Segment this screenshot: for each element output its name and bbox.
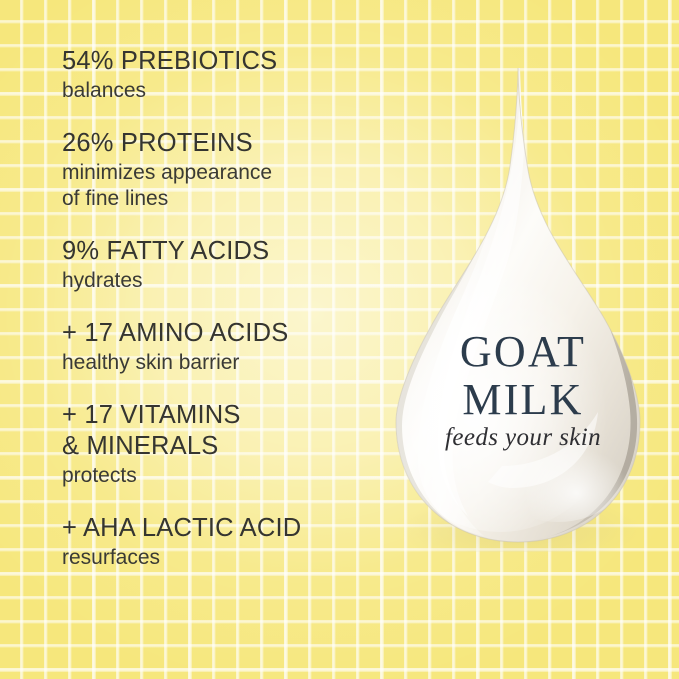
ingredient-benefit: protects <box>62 463 382 489</box>
ingredient-list: 54% PREBIOTICS balances 26% PROTEINS min… <box>62 46 382 571</box>
list-item: 54% PREBIOTICS balances <box>62 46 382 104</box>
ingredient-benefit: hydrates <box>62 268 382 294</box>
ingredient-headline: + 17 AMINO ACIDS <box>62 318 382 349</box>
ingredient-benefit: minimizes appearance of fine lines <box>62 160 382 212</box>
milk-droplet-icon <box>392 60 654 552</box>
ingredient-headline: 54% PREBIOTICS <box>62 46 382 77</box>
ingredient-benefit: balances <box>62 78 382 104</box>
ingredient-headline: 9% FATTY ACIDS <box>62 236 382 267</box>
list-item: + 17 AMINO ACIDS healthy skin barrier <box>62 318 382 376</box>
ingredient-headline: + 17 VITAMINS & MINERALS <box>62 400 382 462</box>
list-item: + AHA LACTIC ACID resurfaces <box>62 513 382 571</box>
ingredient-benefit: healthy skin barrier <box>62 350 382 376</box>
list-item: 9% FATTY ACIDS hydrates <box>62 236 382 294</box>
list-item: + 17 VITAMINS & MINERALS protects <box>62 400 382 489</box>
ingredient-benefit: resurfaces <box>62 545 382 571</box>
ingredient-headline: 26% PROTEINS <box>62 128 382 159</box>
list-item: 26% PROTEINS minimizes appearance of fin… <box>62 128 382 212</box>
ingredient-headline: + AHA LACTIC ACID <box>62 513 382 544</box>
ingredient-infographic: 54% PREBIOTICS balances 26% PROTEINS min… <box>0 0 679 679</box>
